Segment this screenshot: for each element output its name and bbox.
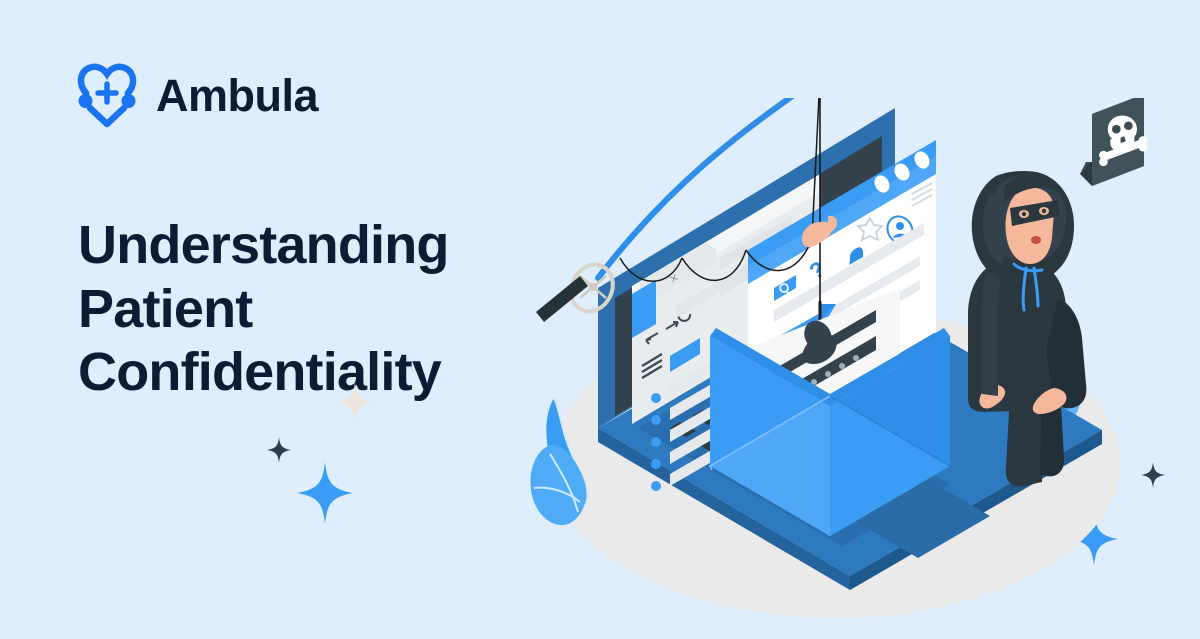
- banner: Ambula Understanding Patient Confidentia…: [0, 0, 1200, 639]
- sparkle-cream-large: [337, 382, 373, 422]
- illustration-canvas: ✕: [520, 98, 1150, 628]
- headline-line-3: Confidentiality: [78, 341, 548, 405]
- heart-stethoscope-icon: [74, 60, 142, 130]
- phishing-attack-illustration: ✕: [520, 98, 1150, 628]
- page-title: Understanding Patient Confidentiality: [78, 214, 548, 405]
- headline-line-2: Patient: [78, 278, 548, 342]
- skull-crossbones-badge: [1080, 98, 1147, 186]
- sparkle-navy-small: [267, 437, 291, 463]
- brand-name: Ambula: [156, 73, 318, 118]
- headline-line-1: Understanding: [78, 214, 548, 278]
- brand-logo[interactable]: Ambula: [74, 60, 318, 130]
- sparkle-blue-large: [297, 462, 353, 524]
